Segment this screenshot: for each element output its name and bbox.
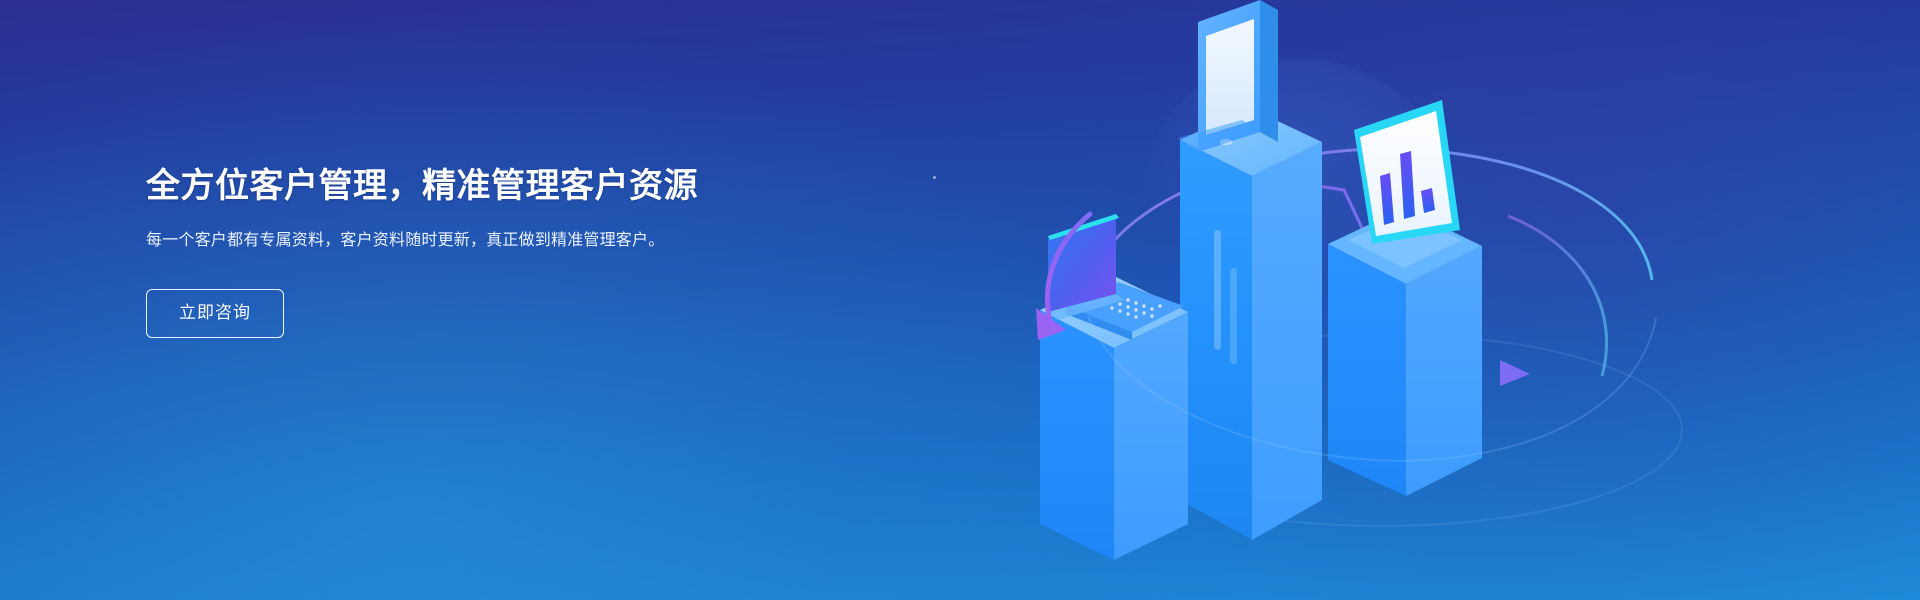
background-sparkle-dot (933, 176, 936, 179)
consult-now-button[interactable]: 立即咨询 (146, 289, 284, 337)
hero-banner: 全方位客户管理，精准管理客户资源 每一个客户都有专属资料，客户资料随时更新，真正… (0, 0, 1920, 600)
page-title: 全方位客户管理，精准管理客户资源 (146, 165, 786, 208)
hero-illustration (992, 0, 1752, 600)
tablet-device (1178, 0, 1278, 152)
bar-chart-monitor (1348, 100, 1462, 268)
center-pedestal (1180, 108, 1322, 540)
hero-subtitle: 每一个客户都有专属资料，客户资料随时更新，真正做到精准管理客户。 (146, 228, 726, 254)
hero-copy-block: 全方位客户管理，精准管理客户资源 每一个客户都有专属资料，客户资料随时更新，真正… (146, 165, 786, 338)
